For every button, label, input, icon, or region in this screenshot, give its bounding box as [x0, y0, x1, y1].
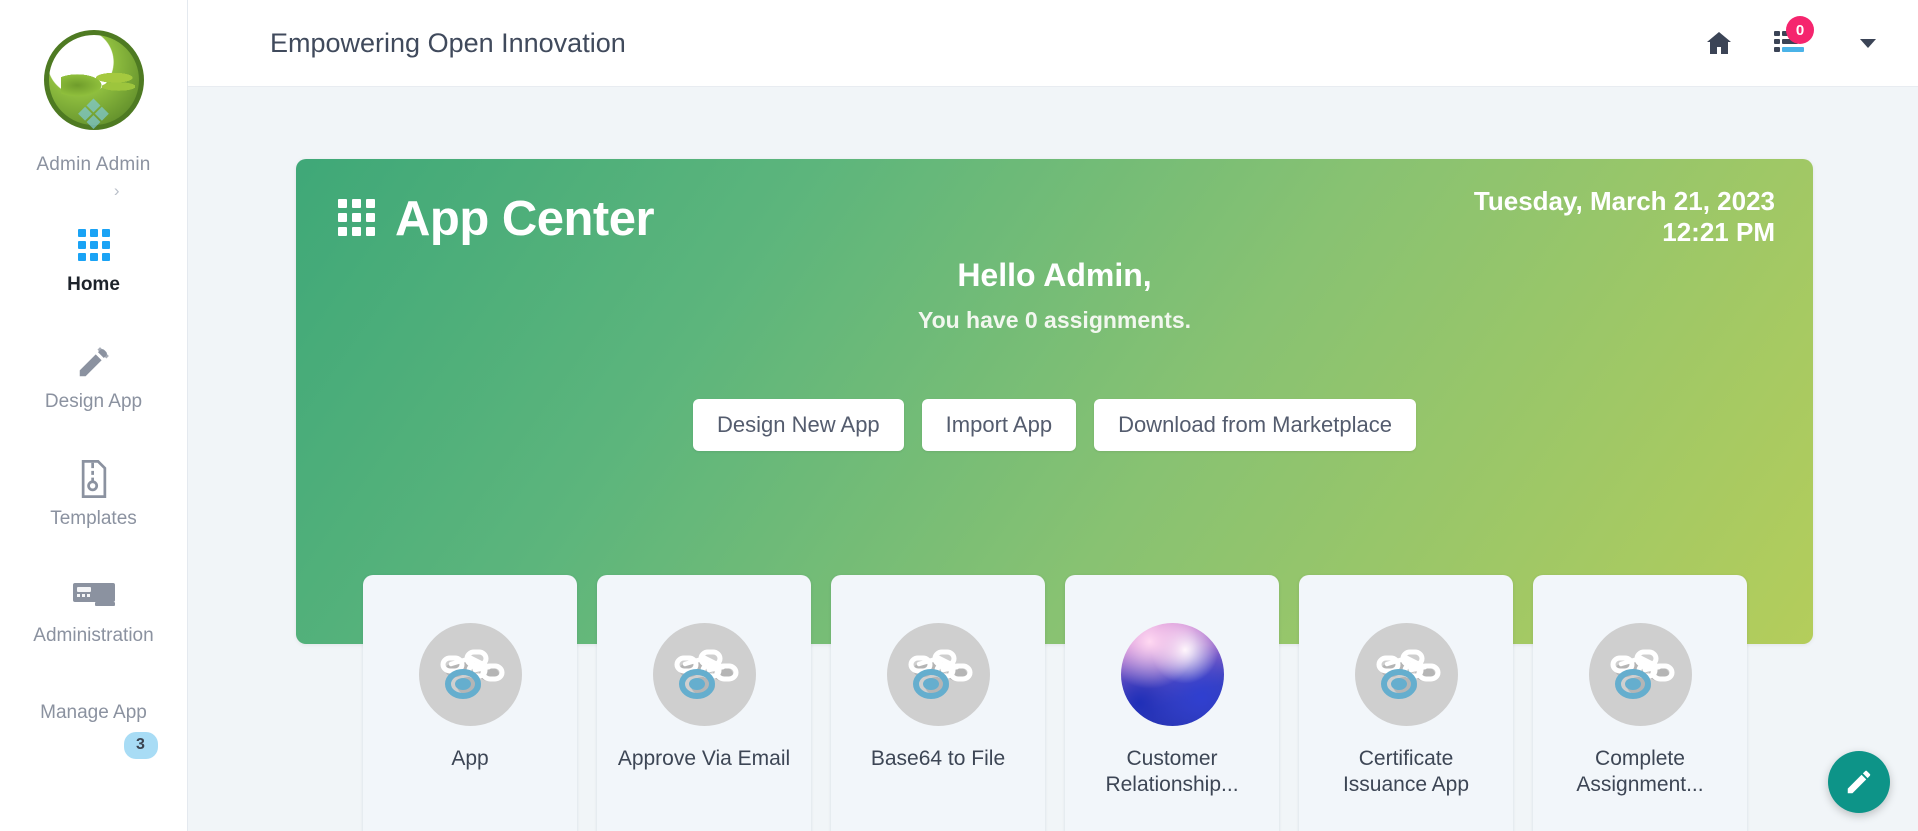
- main-content: App Center Tuesday, March 21, 2023 12:21…: [188, 87, 1918, 831]
- banner-date-text: Tuesday, March 21, 2023: [1474, 186, 1775, 217]
- app-card-list: App: [363, 575, 1747, 831]
- app-card-label: Customer Relationship...: [1082, 746, 1262, 799]
- app-card-label: Certificate Issuance App: [1316, 746, 1496, 799]
- chevron-right-icon[interactable]: ›: [114, 182, 120, 199]
- pencil-ruler-icon: [4, 342, 184, 382]
- app-card-label: App: [380, 746, 560, 772]
- app-card-label: Complete Assignment...: [1550, 746, 1730, 799]
- app-card-label: Base64 to File: [848, 746, 1028, 772]
- download-from-marketplace-button[interactable]: Download from Marketplace: [1094, 399, 1416, 451]
- sidebar-item-administration[interactable]: Administration: [0, 563, 188, 660]
- caret-down-icon[interactable]: [1860, 39, 1876, 48]
- sidebar-item-templates[interactable]: Templates: [0, 446, 188, 543]
- app-card[interactable]: Customer Relationship...: [1065, 575, 1279, 831]
- app-card[interactable]: Complete Assignment...: [1533, 575, 1747, 831]
- sidebar-item-label: Templates: [4, 508, 184, 530]
- tasks-list-icon[interactable]: 0: [1774, 30, 1804, 56]
- app-card[interactable]: Base64 to File: [831, 575, 1045, 831]
- page-title: Empowering Open Innovation: [270, 28, 626, 59]
- header-actions: 0: [1706, 30, 1876, 56]
- import-app-button[interactable]: Import App: [922, 399, 1076, 451]
- banner-action-buttons: Design New App Import App Download from …: [296, 399, 1813, 451]
- id-card-icon: [4, 576, 184, 616]
- app-card-label: Approve Via Email: [614, 746, 794, 772]
- banner-datetime: Tuesday, March 21, 2023 12:21 PM: [1474, 186, 1775, 248]
- banner-title-text: App Center: [395, 191, 654, 247]
- avatar[interactable]: ❖ ›: [44, 30, 144, 130]
- top-header: Empowering Open Innovation 0: [188, 0, 1918, 87]
- banner-title: App Center: [338, 191, 654, 247]
- sidebar-item-design-app[interactable]: Design App: [0, 329, 188, 426]
- profile-name: Admin Admin: [0, 154, 188, 176]
- document-zip-icon: [4, 459, 184, 499]
- greeting-text: Hello Admin,: [296, 257, 1813, 294]
- sidebar-item-label: Administration: [4, 625, 184, 647]
- edit-fab-button[interactable]: [1828, 751, 1890, 813]
- app-card[interactable]: App: [363, 575, 577, 831]
- pencil-icon: [1844, 767, 1874, 797]
- sidebar-nav: Home Design App: [0, 212, 188, 757]
- sidebar-item-label: Design App: [4, 391, 184, 413]
- network-nodes-icon: [653, 623, 756, 726]
- tasks-count-badge: 0: [1786, 16, 1814, 44]
- app-card[interactable]: Approve Via Email: [597, 575, 811, 831]
- app-card[interactable]: Certificate Issuance App: [1299, 575, 1513, 831]
- sidebar-item-label: Manage App: [4, 702, 184, 724]
- network-nodes-icon: [1355, 623, 1458, 726]
- sidebar: ❖ › Admin Admin Home Design App: [0, 0, 188, 831]
- design-new-app-button[interactable]: Design New App: [693, 399, 904, 451]
- app-center-banner: App Center Tuesday, March 21, 2023 12:21…: [296, 159, 1813, 644]
- app-root: ❖ › Admin Admin Home Design App: [0, 0, 1918, 831]
- network-nodes-icon: [419, 623, 522, 726]
- network-nodes-icon: [1589, 623, 1692, 726]
- network-nodes-icon: [887, 623, 990, 726]
- profile-section[interactable]: ❖ › Admin Admin: [0, 0, 188, 176]
- emblem-overlay-icon: ❖: [71, 92, 117, 138]
- sidebar-item-home[interactable]: Home: [0, 212, 188, 309]
- banner-time-text: 12:21 PM: [1474, 217, 1775, 248]
- assignments-text: You have 0 assignments.: [296, 307, 1813, 334]
- photo-thumbnail-icon: [1121, 623, 1224, 726]
- status-badge: 3: [124, 732, 158, 759]
- grid-apps-icon: [338, 199, 375, 236]
- sidebar-item-label: Home: [4, 274, 184, 296]
- sidebar-item-manage-app[interactable]: Manage App 3: [0, 680, 188, 737]
- grid-apps-icon: [4, 225, 184, 265]
- home-icon[interactable]: [1706, 31, 1732, 55]
